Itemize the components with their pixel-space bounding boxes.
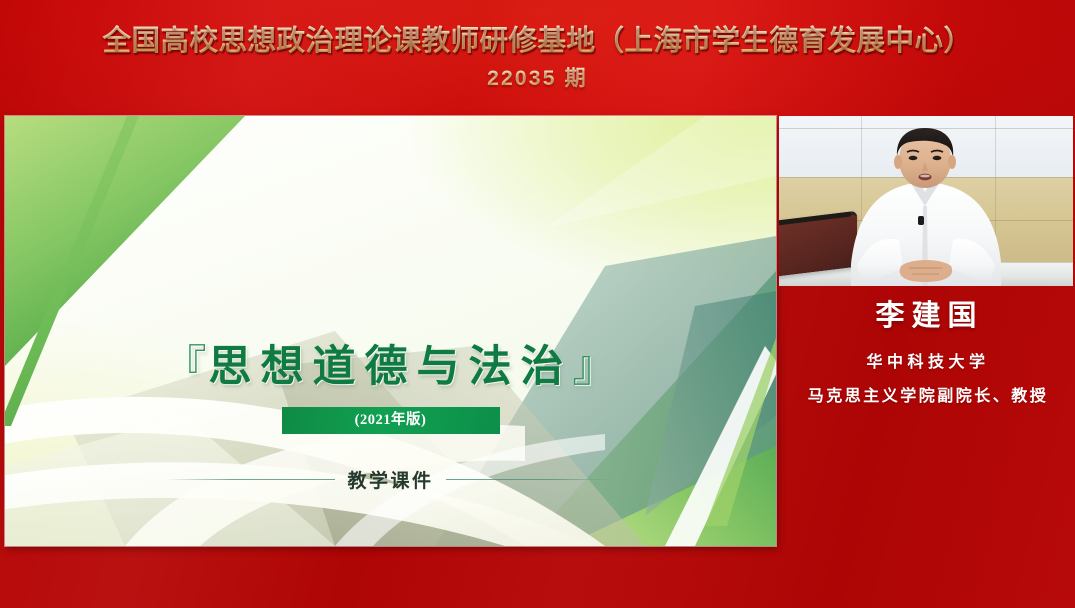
- speaker-person-figure: [779, 116, 1073, 286]
- slide-courseware-row: 教学课件: [5, 466, 776, 493]
- header-title: 全国高校思想政治理论课教师研修基地（上海市学生德育发展中心）: [0, 18, 1075, 59]
- header-session-number: 22035 期: [0, 62, 1075, 92]
- courseware-rule-left: [165, 479, 335, 480]
- presentation-stage: 全国高校思想政治理论课教师研修基地（上海市学生德育发展中心） 全国高校思想政治理…: [0, 0, 1075, 608]
- slide-title-text: 思想道德与法治: [209, 344, 573, 391]
- header-band: 全国高校思想政治理论课教师研修基地（上海市学生德育发展中心） 全国高校思想政治理…: [0, 0, 1075, 112]
- speaker-position: 马克思主义学院副院长、教授: [779, 382, 1073, 406]
- courseware-rule-right: [446, 479, 616, 480]
- speaker-info-block: 李建国 华中科技大学 马克思主义学院副院长、教授: [779, 292, 1073, 406]
- speaker-name: 李建国: [779, 292, 1073, 334]
- speaker-video-frame[interactable]: [779, 116, 1073, 286]
- slide-panel[interactable]: 『思想道德与法治』 (2021年版) 教学课件: [5, 116, 776, 546]
- speaker-affiliation: 华中科技大学: [779, 348, 1073, 372]
- bracket-close-glyph: 』: [573, 344, 618, 391]
- slide-main-title: 『思想道德与法治』: [5, 332, 776, 394]
- bracket-open-glyph: 『: [164, 344, 209, 391]
- slide-edition-badge: (2021年版): [282, 407, 500, 434]
- slide-courseware-label: 教学课件: [347, 466, 433, 493]
